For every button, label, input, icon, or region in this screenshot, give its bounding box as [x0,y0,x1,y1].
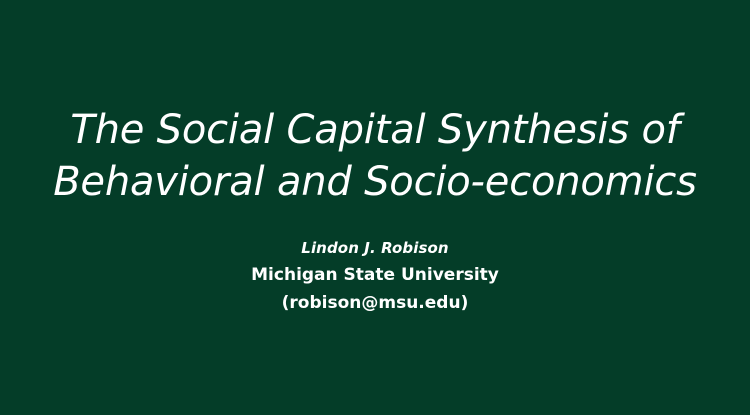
author-email: (robison@msu.edu) [0,289,750,317]
slide-title: The Social Capital Synthesis of Behavior… [0,104,750,208]
presentation-title-slide: The Social Capital Synthesis of Behavior… [0,0,750,415]
author-affiliation: Michigan State University [0,261,750,289]
author-block: Lindon J. Robison Michigan State Univers… [0,236,750,317]
title-line-1: The Social Capital Synthesis of [0,104,750,156]
author-name: Lindon J. Robison [0,236,750,261]
title-line-2: Behavioral and Socio-economics [0,156,750,208]
